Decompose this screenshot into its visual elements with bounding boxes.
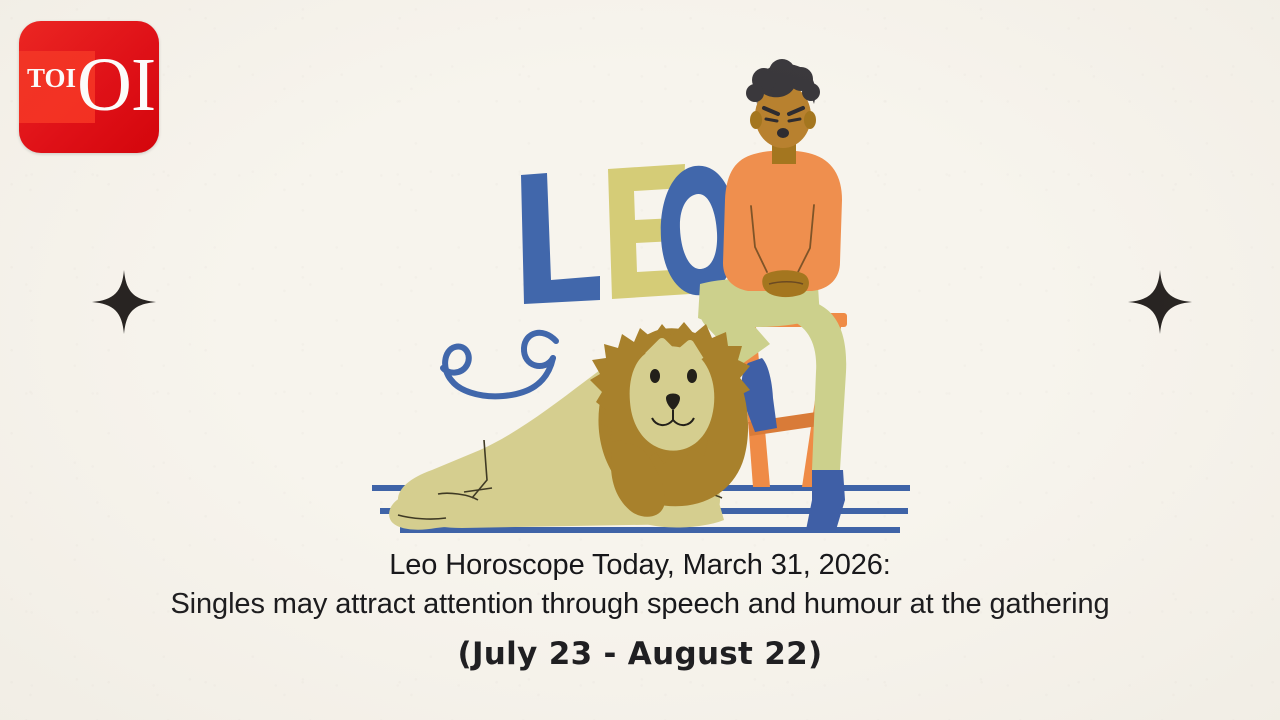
- caption-headline: Leo Horoscope Today, March 31, 2026:: [0, 546, 1280, 585]
- logo-toi-text: TOI: [27, 65, 76, 92]
- person-head: [746, 59, 820, 148]
- sparkle-star-left: [92, 270, 156, 334]
- logo-oi-text: OI: [77, 47, 155, 123]
- times-of-india-logo[interactable]: TOI OI: [19, 21, 159, 153]
- caption-date-range: (July 23 - August 22): [0, 636, 1280, 672]
- sparkle-star-right: [1128, 270, 1192, 334]
- horoscope-card-screen: TOI OI Leo Horoscope Today, March 31, 20…: [0, 0, 1280, 720]
- caption-subheadline: Singles may attract attention through sp…: [0, 585, 1280, 624]
- leo-curl-glyph: [443, 333, 556, 397]
- lion-illustration: [389, 322, 750, 530]
- person-sweater: [723, 150, 842, 291]
- caption-block: Leo Horoscope Today, March 31, 2026: Sin…: [0, 546, 1280, 672]
